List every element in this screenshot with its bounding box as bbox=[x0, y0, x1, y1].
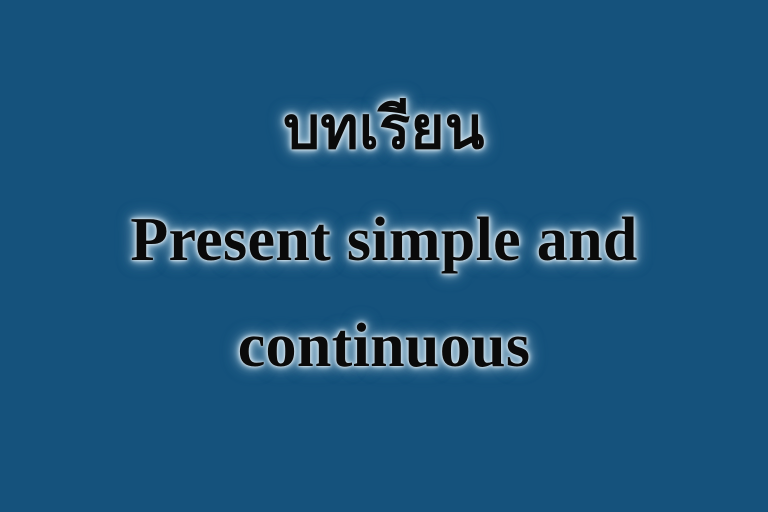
english-title-line-1: Present simple and bbox=[0, 209, 768, 271]
thai-lesson-heading: บทเรียน bbox=[0, 96, 768, 161]
lesson-title-card: บทเรียน Present simple and continuous bbox=[0, 0, 768, 512]
english-title-line-2: continuous bbox=[0, 315, 768, 377]
